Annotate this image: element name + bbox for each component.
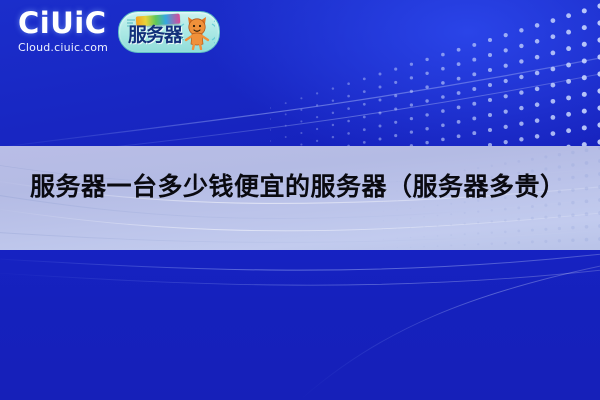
- orange-cat-mascot: [181, 14, 215, 50]
- page-title: 服务器一台多少钱便宜的服务器（服务器多贵）: [30, 170, 578, 204]
- logo-domain: Cloud.ciuic.com: [18, 41, 123, 54]
- logo-wordmark: CiUiC: [18, 8, 123, 38]
- cover-image-canvas: 服务器一台多少钱便宜的服务器（服务器多贵） CiUiC Cloud.ciuic.…: [0, 0, 600, 400]
- brand-logo[interactable]: CiUiC Cloud.ciuic.com: [18, 8, 123, 54]
- background-lower-block: [0, 248, 600, 400]
- badge-label: 服务器: [128, 24, 182, 46]
- server-badge[interactable]: 服务器: [118, 11, 220, 53]
